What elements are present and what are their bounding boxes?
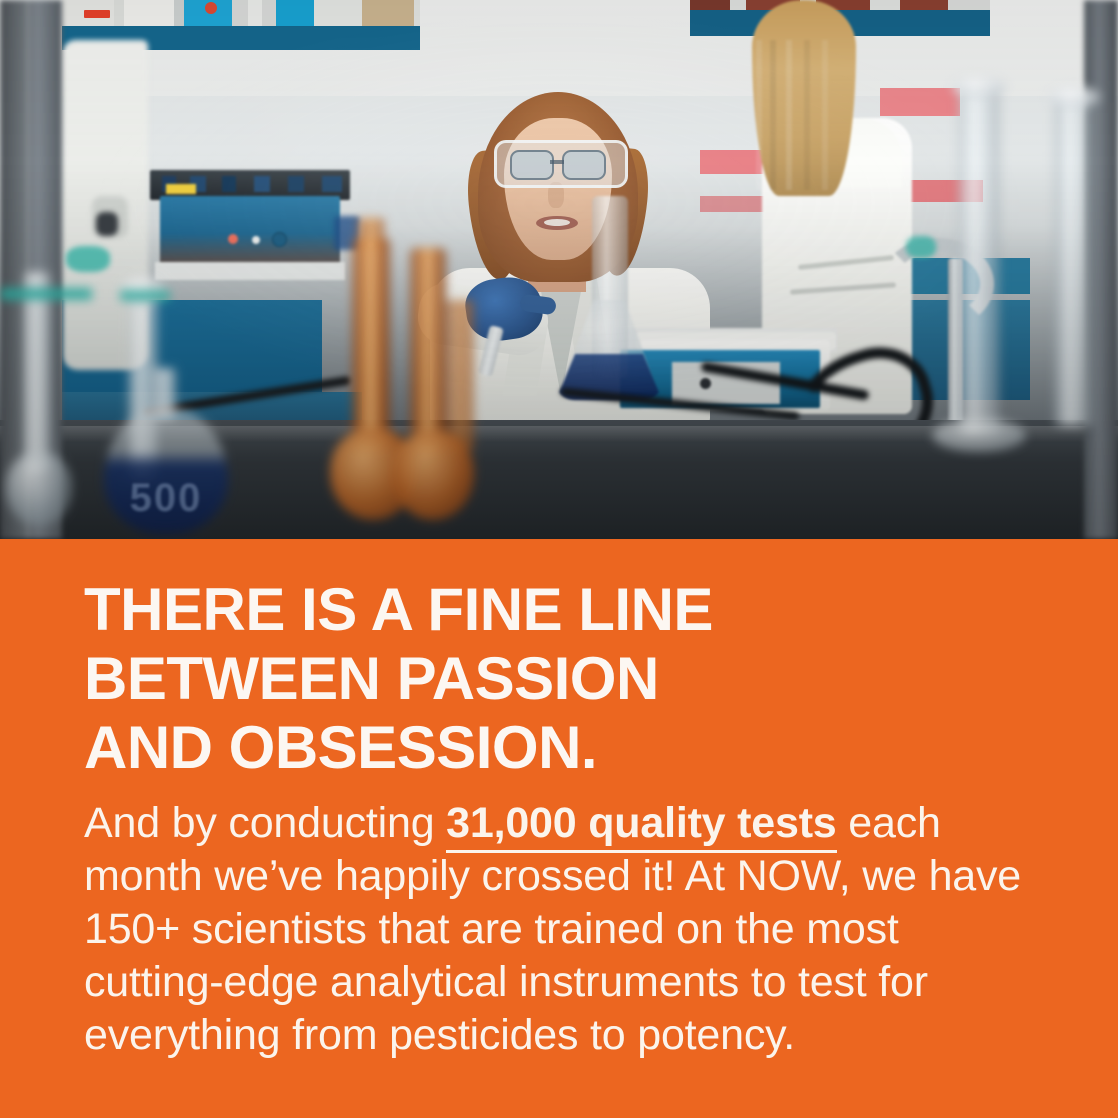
upper-shelf-contents-left bbox=[62, 0, 420, 26]
amber-flask-right-bulb bbox=[392, 430, 474, 520]
hair-strands-blonde bbox=[756, 40, 852, 190]
teal-collar-left bbox=[120, 290, 170, 301]
teeth bbox=[544, 219, 570, 226]
promo-poster: 500 THERE IS A FINE LINE BETWEEN PASSION… bbox=[0, 0, 1118, 1118]
teal-collar-far-left bbox=[0, 288, 92, 300]
clear-flask-bulb-far-left bbox=[6, 452, 72, 526]
instrument-control-knob bbox=[272, 232, 287, 247]
flask-volume-label: 500 bbox=[118, 476, 214, 521]
shelf-tray-pink-upper bbox=[880, 88, 960, 116]
teal-item-right bbox=[906, 236, 936, 258]
cylinder-right-inner bbox=[958, 86, 1000, 434]
body-paragraph: And by conducting 31,000 quality tests e… bbox=[84, 797, 1034, 1062]
clear-flask-stem-far-left bbox=[24, 272, 50, 472]
cylinder-right-outer bbox=[1054, 96, 1094, 426]
instrument-base bbox=[155, 262, 345, 280]
amber-flask-left-stem bbox=[352, 238, 390, 452]
instrument-right-dial bbox=[700, 378, 711, 389]
amber-flask-back bbox=[446, 300, 474, 450]
instrument-status-led-white bbox=[252, 236, 260, 244]
orange-content-panel: THERE IS A FINE LINE BETWEEN PASSION AND… bbox=[0, 539, 1118, 1118]
cylinder-right-outer-rim bbox=[1048, 86, 1100, 108]
instrument-yellow-label bbox=[166, 184, 196, 194]
lab-photo: 500 bbox=[0, 0, 1118, 539]
quality-tests-highlight: 31,000 quality tests bbox=[446, 799, 836, 853]
amber-flask-right-stem bbox=[410, 248, 446, 454]
goggle-lens-left bbox=[510, 150, 554, 180]
body-lead-text: And by conducting bbox=[84, 799, 446, 847]
shelf-label-red bbox=[84, 10, 110, 18]
page-headline: THERE IS A FINE LINE BETWEEN PASSION AND… bbox=[84, 575, 1044, 782]
hand-left-scientist bbox=[96, 212, 118, 236]
goggle-lens-right bbox=[562, 150, 606, 180]
instrument-housing bbox=[160, 196, 340, 264]
shelf-dot-red bbox=[205, 2, 217, 14]
cylinder-right-inner-base bbox=[932, 418, 1026, 452]
teal-item-left bbox=[66, 246, 110, 272]
cylinder-right-inner-rim bbox=[952, 76, 1006, 98]
goggle-bridge bbox=[550, 160, 564, 164]
lab-scene: 500 bbox=[0, 0, 1118, 539]
instrument-status-led-red bbox=[228, 234, 238, 244]
